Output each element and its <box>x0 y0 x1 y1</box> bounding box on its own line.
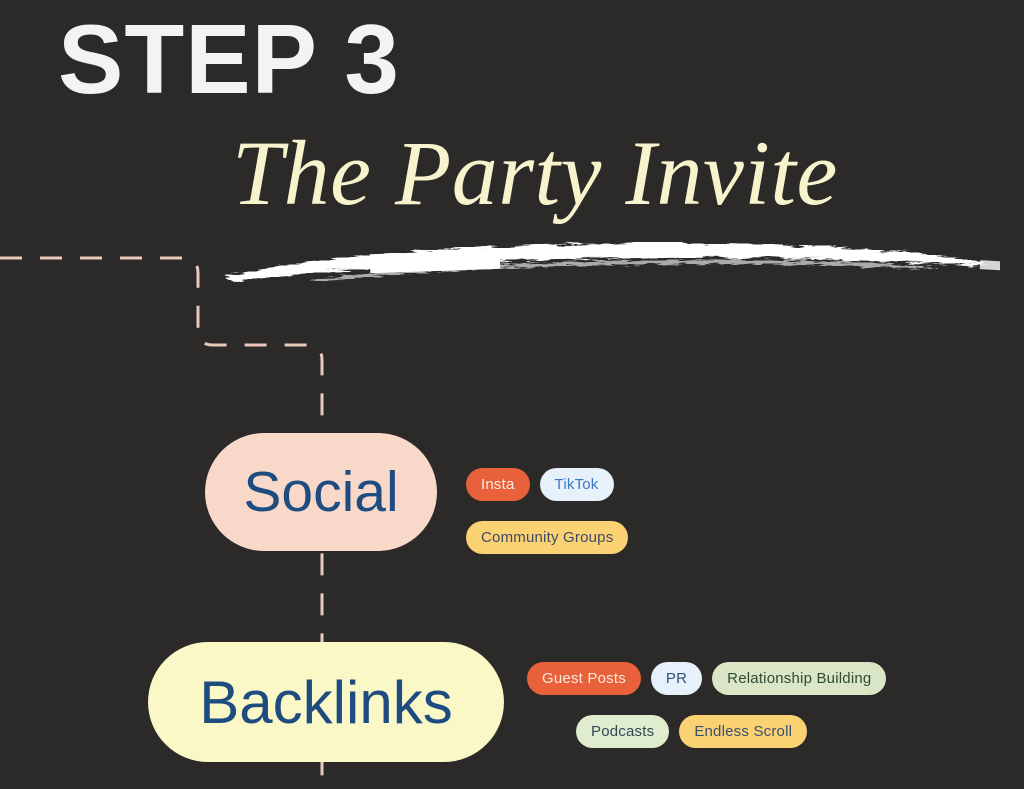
tag-tiktok[interactable]: TikTok <box>540 468 614 501</box>
tag-endless-scroll[interactable]: Endless Scroll <box>679 715 807 748</box>
page-title: STEP 3 <box>58 8 400 111</box>
tag-group-social: Insta TikTok Community Groups <box>466 468 766 554</box>
tag-insta[interactable]: Insta <box>466 468 530 501</box>
tag-guest-posts[interactable]: Guest Posts <box>527 662 641 695</box>
node-social[interactable]: Social <box>205 433 437 551</box>
tag-group-backlinks: Guest Posts PR Relationship Building Pod… <box>527 662 947 748</box>
tag-pr[interactable]: PR <box>651 662 702 695</box>
brush-stroke-decoration <box>210 228 1000 308</box>
slide-canvas: STEP 3 The Party Invite Social <box>0 0 1024 789</box>
tag-podcasts[interactable]: Podcasts <box>576 715 669 748</box>
page-subtitle: The Party Invite <box>232 125 838 222</box>
tag-community-groups[interactable]: Community Groups <box>466 521 628 554</box>
tag-relationship-building[interactable]: Relationship Building <box>712 662 886 695</box>
node-backlinks[interactable]: Backlinks <box>148 642 504 762</box>
